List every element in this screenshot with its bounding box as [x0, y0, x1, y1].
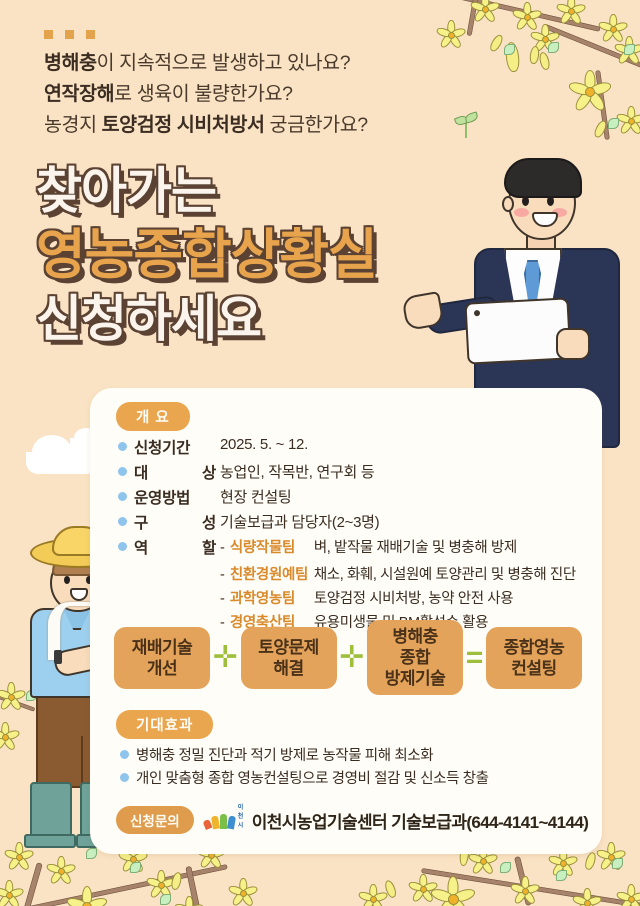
dot-icon	[65, 30, 74, 39]
holding-hand	[556, 328, 590, 360]
role-dash: -	[220, 540, 225, 556]
question-3-rest: 궁금한가요?	[265, 114, 368, 136]
effect-item: 개인 맞춤형 종합 영농컨설팅으로 경영비 절감 및 신소득 창출	[120, 767, 590, 788]
bullet-icon	[118, 442, 127, 451]
title-line-3: 신청하세요	[36, 288, 377, 350]
bullet-icon	[118, 492, 127, 501]
farmer-boot-left	[30, 782, 72, 842]
overview-row: 운영방법 현장 컨설팅	[118, 486, 588, 508]
role-item: - 식량작물팀 벼, 밭작물 재배기술 및 병충해 방제	[220, 536, 517, 557]
role-dash: -	[220, 567, 225, 583]
overview-label: 역할	[134, 536, 220, 558]
effect-text: 개인 맞춤형 종합 영농컨설팅으로 경영비 절감 및 신소득 창출	[136, 767, 489, 788]
overview-value: 농업인, 작목반, 연구회 등	[220, 461, 374, 482]
contact-pill-label: 신청문의	[116, 806, 194, 834]
overview-value: 2025. 5. ~ 12.	[220, 436, 308, 453]
question-line-3: 농경지 토양검정 시비처방서 궁금한가요?	[44, 110, 484, 141]
effect-text: 병해충 정밀 진단과 적기 방제로 농작물 피해 최소화	[136, 744, 433, 765]
overview-value: 현장 컨설팅	[220, 486, 291, 507]
ear	[502, 196, 514, 212]
dot-icon	[44, 30, 53, 39]
overview-row-roles: 역할 - 식량작물팀 벼, 밭작물 재배기술 및 병충해 방제	[118, 536, 588, 560]
bullet-icon	[120, 750, 129, 759]
equation-box-1-line-1: 재배기술	[122, 637, 202, 658]
question-3-pre: 농경지	[44, 114, 102, 136]
question-1-keyword: 병해충	[44, 52, 97, 74]
role-dash: -	[220, 591, 225, 607]
role-desc: 벼, 밭작물 재배기술 및 병충해 방제	[314, 536, 517, 557]
equation-box-3-line-3: 방제기술	[375, 668, 455, 689]
equation-box-4-line-2: 컨설팅	[494, 658, 574, 679]
overview-label: 구성	[134, 511, 220, 533]
bullet-icon	[118, 542, 127, 551]
overview-label: 신청기간	[134, 436, 220, 458]
effect-item: 병해충 정밀 진단과 적기 방제로 농작물 피해 최소화	[120, 744, 590, 765]
equation-box-2-line-1: 토양문제	[249, 637, 329, 658]
overview-list: 신청기간 2025. 5. ~ 12. 대상 농업인, 작목반, 연구회 등 운…	[118, 436, 588, 635]
decorative-dots	[44, 30, 95, 39]
bullet-icon	[118, 517, 127, 526]
tablet-device	[464, 297, 571, 364]
title-line-2: 영농종합상황실	[36, 222, 377, 288]
equation-box-1-line-2: 개선	[122, 658, 202, 679]
title-line-1: 찾아가는	[36, 160, 377, 222]
farmer-sole-left	[24, 834, 76, 848]
overview-label: 대상	[134, 461, 220, 483]
question-3-keyword: 토양검정 시비처방서	[102, 114, 265, 136]
role-item: - 과학영농팀 토양검정 시비처방, 농약 안전 사용	[220, 587, 588, 608]
equation-box-3-line-1: 병해충	[375, 626, 455, 647]
cloud-icon	[26, 452, 98, 474]
equation-box-3: 병해충 종합 방제기술	[367, 620, 463, 695]
equation-box-2: 토양문제 해결	[241, 627, 337, 689]
effects-pill-label: 기대효과	[116, 710, 213, 739]
role-desc: 토양검정 시비처방, 농약 안전 사용	[314, 587, 513, 608]
overview-value: 기술보급과 담당자(2~3명)	[220, 511, 379, 532]
page-title: 찾아가는 영농종합상황실 신청하세요	[36, 160, 377, 350]
farmer-eye-left	[64, 576, 70, 584]
effects-section-header: 기대효과	[116, 710, 213, 739]
plus-icon: ✛	[339, 643, 364, 673]
role-desc: 채소, 화훼, 시설원예 토양관리 및 병충해 진단	[314, 563, 576, 584]
eye-left	[522, 196, 529, 206]
equation-box-3-line-2: 종합	[375, 647, 455, 668]
poster-root: 병해충이 지속적으로 발생하고 있나요? 연작장해로 생육이 불량한가요? 농경…	[0, 0, 640, 906]
effects-list: 병해충 정밀 진단과 적기 방제로 농작물 피해 최소화 개인 맞춤형 종합 영…	[120, 744, 590, 790]
equation-box-4-line-1: 종합영농	[494, 637, 574, 658]
overview-row: 구성 기술보급과 담당자(2~3명)	[118, 511, 588, 533]
plus-icon: ✛	[213, 643, 238, 673]
bullet-icon	[120, 773, 129, 782]
role-team: 과학영농팀	[230, 587, 314, 608]
role-team: 친환경원예팀	[230, 563, 314, 584]
equals-icon: =	[466, 643, 484, 673]
info-card: 개 요 신청기간 2025. 5. ~ 12. 대상 농업인, 작목반, 연구회…	[90, 388, 602, 854]
overview-section-header: 개 요	[116, 402, 190, 431]
bullet-icon	[118, 467, 127, 476]
overview-row: 신청기간 2025. 5. ~ 12.	[118, 436, 588, 458]
question-1-rest: 이 지속적으로 발생하고 있나요?	[97, 52, 351, 74]
blush-left	[514, 208, 529, 217]
question-2-rest: 로 생육이 불량한가요?	[114, 83, 292, 105]
equation-row: 재배기술 개선 ✛ 토양문제 해결 ✛ 병해충 종합 방제기술 = 종합영농 컨…	[114, 620, 582, 695]
contact-text: 이천시농업기술센터 기술보급과(644-4141~4144)	[252, 808, 589, 833]
logo-text: 이천시	[238, 802, 245, 829]
dot-icon	[86, 30, 95, 39]
contact-row[interactable]: 신청문의 이천시 이천시농업기술센터 기술보급과(644-4141~4144)	[116, 806, 588, 834]
hair	[504, 158, 582, 198]
equation-box-4: 종합영농 컨설팅	[486, 627, 582, 689]
question-line-2: 연작장해로 생육이 불량한가요?	[44, 79, 484, 110]
overview-label: 운영방법	[134, 486, 220, 508]
eye-right	[547, 196, 554, 206]
role-item: - 친환경원예팀 채소, 화훼, 시설원예 토양관리 및 병충해 진단	[220, 563, 588, 584]
overview-row: 대상 농업인, 작목반, 연구회 등	[118, 461, 588, 483]
role-team: 식량작물팀	[230, 536, 314, 557]
question-line-1: 병해충이 지속적으로 발생하고 있나요?	[44, 48, 484, 79]
icheon-city-logo-icon: 이천시	[204, 811, 245, 829]
overview-pill-label: 개 요	[116, 402, 190, 431]
equation-box-2-line-2: 해결	[249, 658, 329, 679]
equation-box-1: 재배기술 개선	[114, 627, 210, 689]
question-2-keyword: 연작장해	[44, 83, 114, 105]
question-block: 병해충이 지속적으로 발생하고 있나요? 연작장해로 생육이 불량한가요? 농경…	[44, 48, 484, 141]
wristwatch	[54, 650, 62, 664]
